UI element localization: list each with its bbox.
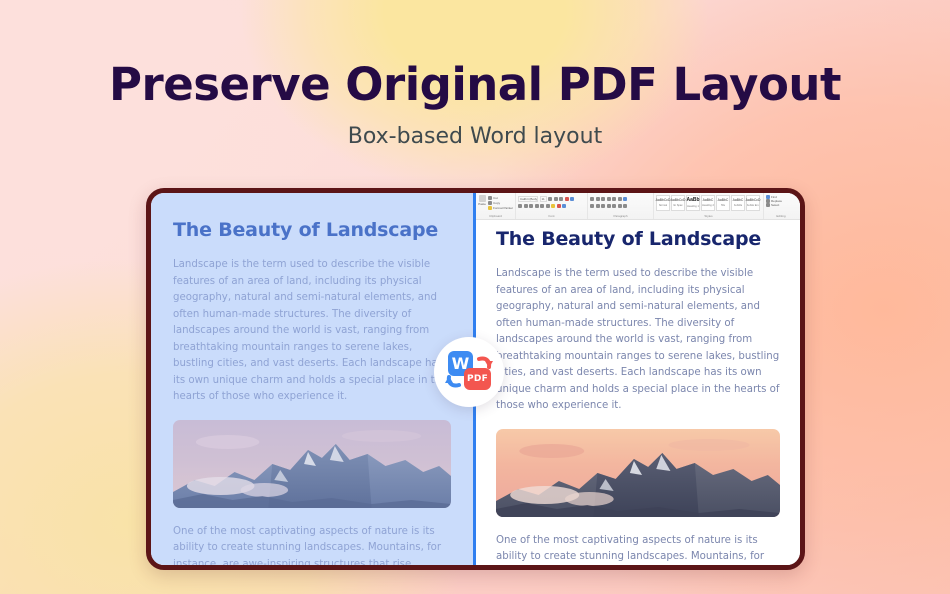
numbering-icon[interactable]	[596, 197, 600, 201]
style-subtle-emphasis-sample: AaBbCcD	[746, 199, 761, 202]
style-subtitle-label: Subtitle	[734, 204, 743, 207]
left-document-paragraph-2: One of the most captivating aspects of n…	[173, 524, 451, 565]
editing-group-label: Editing	[764, 214, 798, 218]
format-painter-button[interactable]: Format Painter	[488, 206, 513, 210]
italic-icon[interactable]	[524, 204, 528, 208]
page-title: Preserve Original PDF Layout	[0, 60, 950, 110]
select-icon	[766, 203, 770, 207]
align-right-icon[interactable]	[601, 204, 605, 208]
style-no-spacing-sample: AaBbCcD	[671, 199, 686, 202]
styles-group-label: Styles	[654, 214, 763, 218]
style-heading-2-sample: AaBbC	[703, 199, 714, 202]
underline-icon[interactable]	[529, 204, 533, 208]
style-subtitle[interactable]: AaBbC Subtitle	[731, 195, 745, 211]
bullets-icon[interactable]	[590, 197, 594, 201]
ribbon-group-paragraph[interactable]: Paragraph	[588, 193, 654, 219]
word-document-pane[interactable]: Paste Cut Copy	[476, 193, 800, 565]
left-document-heading: The Beauty of Landscape	[173, 219, 451, 241]
font-name-combobox[interactable]: Calibri (Body)	[518, 196, 538, 202]
paste-label: Paste	[478, 202, 486, 206]
text-effects-2-icon[interactable]	[562, 204, 566, 208]
paste-button[interactable]: Paste	[478, 195, 486, 210]
text-highlight-color-icon[interactable]	[551, 204, 555, 208]
sort-icon[interactable]	[618, 197, 622, 201]
style-no-spacing[interactable]: AaBbCcD No Spac.	[671, 195, 685, 211]
ribbon-group-editing[interactable]: Find Replace Select Editing	[764, 193, 798, 219]
align-center-icon[interactable]	[596, 204, 600, 208]
page-subtitle: Box-based Word layout	[0, 124, 950, 149]
word-to-pdf-convert-badge[interactable]: W PDF	[434, 337, 504, 407]
decrease-indent-icon[interactable]	[607, 197, 611, 201]
style-heading-1-label: Heading 1	[687, 205, 699, 208]
style-title[interactable]: AaBbC Title	[716, 195, 730, 211]
cut-label: Cut	[493, 196, 498, 200]
text-effects-icon[interactable]	[570, 197, 574, 201]
superscript-icon[interactable]	[546, 204, 550, 208]
scissors-icon	[488, 196, 492, 200]
mountain-photo-sunset-icon	[496, 429, 780, 517]
ribbon-group-styles[interactable]: AaBbCcD Normal AaBbCcD No Spac. AaBb Hea…	[654, 193, 764, 219]
paragraph-group-label: Paragraph	[588, 214, 653, 218]
mountain-photo-lavender-icon	[173, 420, 451, 508]
style-title-sample: AaBbC	[718, 199, 729, 202]
right-document-paragraph-1: Landscape is the term used to describe t…	[496, 266, 780, 415]
style-heading-2-label: Heading 2	[702, 204, 714, 207]
style-title-label: Title	[721, 204, 726, 207]
pdf-preview-pane[interactable]: The Beauty of Landscape Landscape is the…	[151, 193, 473, 565]
style-normal-label: Normal	[659, 204, 667, 207]
paintbrush-icon	[488, 206, 492, 210]
ribbon-group-clipboard[interactable]: Paste Cut Copy	[476, 193, 516, 219]
convert-arrows-icon	[434, 337, 504, 407]
right-document-image	[496, 429, 780, 517]
style-no-spacing-label: No Spac.	[673, 204, 684, 207]
bold-icon[interactable]	[518, 204, 522, 208]
clear-formatting-icon[interactable]	[565, 197, 569, 201]
style-heading-1[interactable]: AaBb Heading 1	[686, 195, 700, 211]
style-heading-2[interactable]: AaBbC Heading 2	[701, 195, 715, 211]
increase-indent-icon[interactable]	[612, 197, 616, 201]
copy-button[interactable]: Copy	[488, 201, 513, 205]
word-ribbon-toolbar[interactable]: Paste Cut Copy	[476, 193, 800, 220]
style-subtle-emphasis-label: Subtle Em.	[747, 204, 760, 207]
subscript-icon[interactable]	[540, 204, 544, 208]
line-spacing-icon[interactable]	[612, 204, 616, 208]
style-normal-sample: AaBbCcD	[656, 199, 671, 202]
style-normal[interactable]: AaBbCcD Normal	[656, 195, 670, 211]
shading-icon[interactable]	[618, 204, 622, 208]
show-hide-marks-icon[interactable]	[623, 197, 627, 201]
right-document-heading: The Beauty of Landscape	[496, 228, 780, 250]
copy-label: Copy	[493, 201, 500, 205]
left-document-image	[173, 420, 451, 508]
word-document-body: The Beauty of Landscape Landscape is the…	[476, 220, 800, 565]
select-label: Select	[771, 203, 779, 207]
change-case-icon[interactable]	[559, 197, 563, 201]
format-painter-label: Format Painter	[493, 206, 513, 210]
font-size-combobox[interactable]: 11	[540, 196, 547, 202]
multilevel-list-icon[interactable]	[601, 197, 605, 201]
font-color-icon[interactable]	[557, 204, 561, 208]
justify-icon[interactable]	[607, 204, 611, 208]
shrink-font-icon[interactable]	[554, 197, 558, 201]
left-document-paragraph-1: Landscape is the term used to describe t…	[173, 257, 451, 406]
borders-icon[interactable]	[623, 204, 627, 208]
select-button[interactable]: Select	[766, 203, 796, 207]
paste-icon	[479, 195, 486, 202]
font-group-label: Font	[516, 214, 587, 218]
promo-banner: Preserve Original PDF Layout Box-based W…	[0, 0, 950, 594]
style-subtle-emphasis[interactable]: AaBbCcD Subtle Em.	[746, 195, 760, 211]
hero-text-block: Preserve Original PDF Layout Box-based W…	[0, 60, 950, 149]
style-subtitle-sample: AaBbC	[733, 199, 744, 202]
style-heading-1-sample: AaBb	[686, 198, 699, 203]
grow-font-icon[interactable]	[548, 197, 552, 201]
right-document-paragraph-2: One of the most captivating aspects of n…	[496, 533, 780, 565]
align-left-icon[interactable]	[590, 204, 594, 208]
cut-button[interactable]: Cut	[488, 196, 513, 200]
strikethrough-icon[interactable]	[535, 204, 539, 208]
ribbon-group-font[interactable]: Calibri (Body) 11	[516, 193, 588, 219]
copy-icon	[488, 201, 492, 205]
clipboard-group-label: Clipboard	[476, 214, 515, 218]
